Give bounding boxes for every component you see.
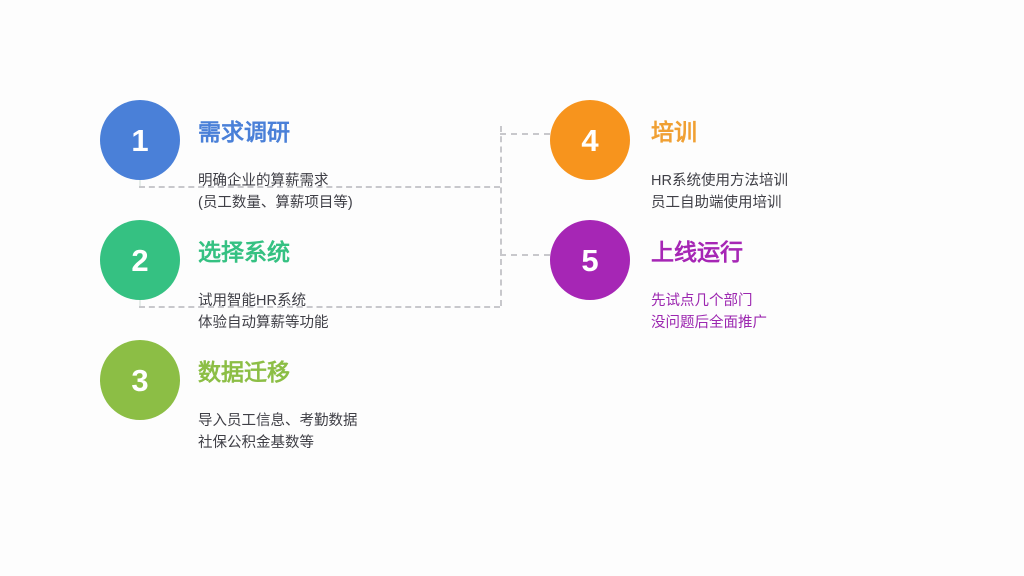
step-5-body-line-2: 没问题后全面推广	[651, 312, 767, 334]
step-3-body-line-2: 社保公积金基数等	[198, 432, 358, 454]
step-2-circle: 2	[100, 220, 180, 300]
step-1-body-line-1: 明确企业的算薪需求	[198, 170, 353, 192]
step-4-body-line-1: HR系统使用方法培训	[651, 170, 788, 192]
connector-branch-step5	[500, 254, 550, 256]
step-5-number: 5	[581, 245, 598, 276]
connector-branch-step4	[500, 133, 550, 135]
step-3-title: 数据迁移	[198, 359, 290, 385]
step-4-number: 4	[581, 125, 598, 156]
step-3-number: 3	[131, 365, 148, 396]
connector-trunk-vertical	[500, 126, 502, 306]
step-1-body-line-2: (员工数量、算薪项目等)	[198, 192, 353, 214]
step-4-body: HR系统使用方法培训 员工自助端使用培训	[651, 170, 788, 215]
step-3-body-line-1: 导入员工信息、考勤数据	[198, 410, 358, 432]
step-4-body-line-2: 员工自助端使用培训	[651, 192, 788, 214]
step-1-circle: 1	[100, 100, 180, 180]
step-1-title: 需求调研	[198, 119, 290, 145]
step-2-body-line-2: 体验自动算薪等功能	[198, 312, 329, 334]
step-5-body: 先试点几个部门 没问题后全面推广	[651, 290, 767, 335]
step-4-circle: 4	[550, 100, 630, 180]
step-1-body: 明确企业的算薪需求 (员工数量、算薪项目等)	[198, 170, 353, 215]
step-2-number: 2	[131, 245, 148, 276]
step-5-body-line-1: 先试点几个部门	[651, 290, 767, 312]
step-5-circle: 5	[550, 220, 630, 300]
step-1-number: 1	[131, 125, 148, 156]
step-5-title: 上线运行	[651, 239, 743, 265]
step-2-body: 试用智能HR系统 体验自动算薪等功能	[198, 290, 329, 335]
step-2-title: 选择系统	[198, 239, 290, 265]
step-3-circle: 3	[100, 340, 180, 420]
step-3-body: 导入员工信息、考勤数据 社保公积金基数等	[198, 410, 358, 455]
slide-canvas: 1 需求调研 明确企业的算薪需求 (员工数量、算薪项目等) 2 选择系统 试用智…	[0, 0, 1024, 576]
step-2-body-line-1: 试用智能HR系统	[198, 290, 329, 312]
step-4-title: 培训	[651, 119, 697, 145]
